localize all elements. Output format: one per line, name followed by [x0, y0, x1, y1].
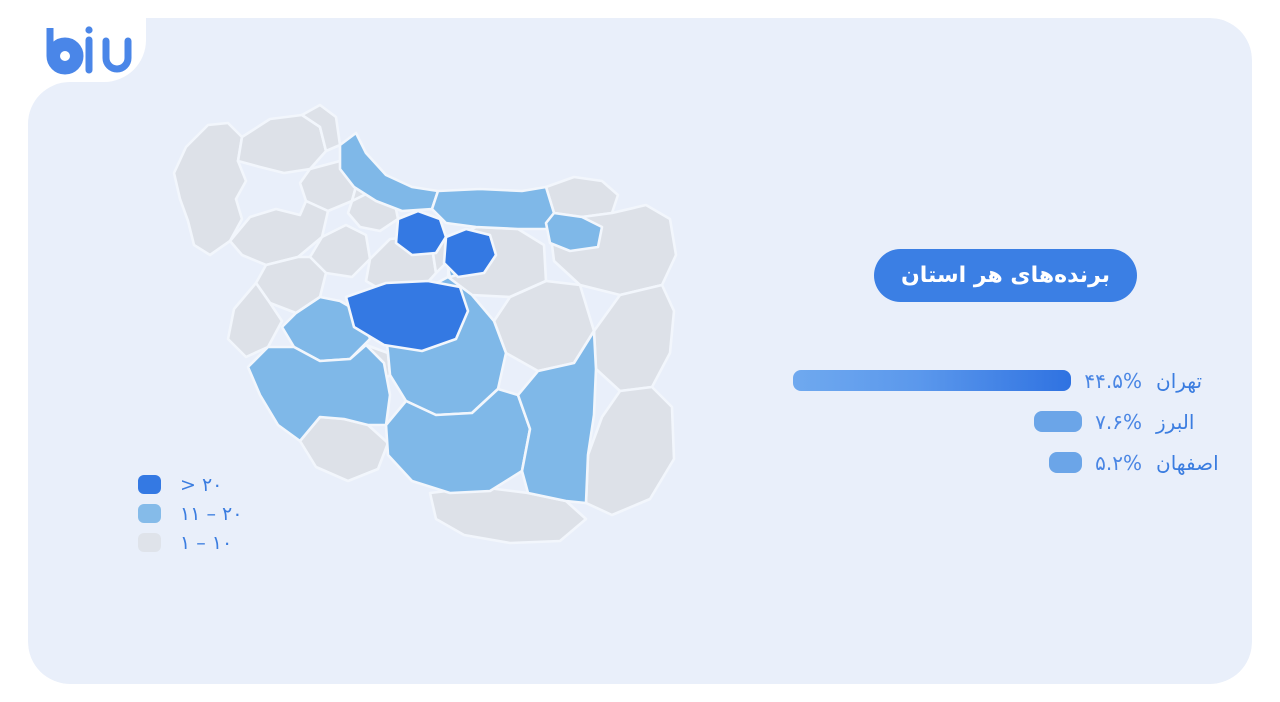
chart-title-badge: برنده‌های هر استان [874, 249, 1137, 302]
bar-fill-alborz [1034, 411, 1082, 432]
legend-item-mid: ۱۱ – ۲۰ [138, 499, 242, 528]
infographic-canvas: > ۲۰ ۱۱ – ۲۰ ۱ – ۱۰ برنده‌های هر استان ت… [0, 0, 1280, 702]
bar-row-isfahan: اصفهان ۵.۲% [760, 442, 1240, 483]
province-sistan-baluchestan [586, 387, 674, 515]
bar-label-alborz: البرز [1142, 410, 1240, 434]
province-mazandaran [432, 187, 554, 229]
bar-fill-isfahan [1049, 452, 1082, 473]
province-south-khorasan [594, 285, 674, 391]
bar-track-isfahan: ۵.۲% [1049, 451, 1142, 475]
chart-title-text: برنده‌های هر استان [901, 263, 1110, 288]
bar-value-tehran: ۴۴.۵% [1084, 369, 1142, 393]
legend-item-low: ۱ – ۱۰ [138, 528, 242, 557]
legend-label-high: > ۲۰ [180, 474, 222, 496]
bar-value-isfahan: ۵.۲% [1095, 451, 1142, 475]
map-legend: > ۲۰ ۱۱ – ۲۰ ۱ – ۱۰ [138, 470, 242, 557]
legend-swatch-mid [138, 504, 161, 523]
province-alborz [396, 211, 446, 255]
bar-fill-tehran [793, 370, 1071, 391]
bar-track-alborz: ۷.۶% [1034, 410, 1142, 434]
legend-swatch-high [138, 475, 161, 494]
province-north-khorasan [546, 177, 618, 217]
bar-label-tehran: تهران [1142, 369, 1240, 393]
legend-label-mid: ۱۱ – ۲۰ [180, 503, 242, 525]
bar-row-tehran: تهران ۴۴.۵% [760, 360, 1240, 401]
legend-swatch-low [138, 533, 161, 552]
bar-label-isfahan: اصفهان [1142, 451, 1240, 475]
legend-item-high: > ۲۰ [138, 470, 242, 499]
blu-logo [44, 22, 140, 80]
bar-row-alborz: البرز ۷.۶% [760, 401, 1240, 442]
bar-track-tehran: ۴۴.۵% [793, 369, 1142, 393]
province-winners-bar-chart: تهران ۴۴.۵% البرز ۷.۶% اصفهان ۵.۲% [760, 360, 1240, 483]
bar-value-alborz: ۷.۶% [1095, 410, 1142, 434]
legend-label-low: ۱ – ۱۰ [180, 532, 232, 554]
blu-logo-icon [44, 22, 140, 80]
